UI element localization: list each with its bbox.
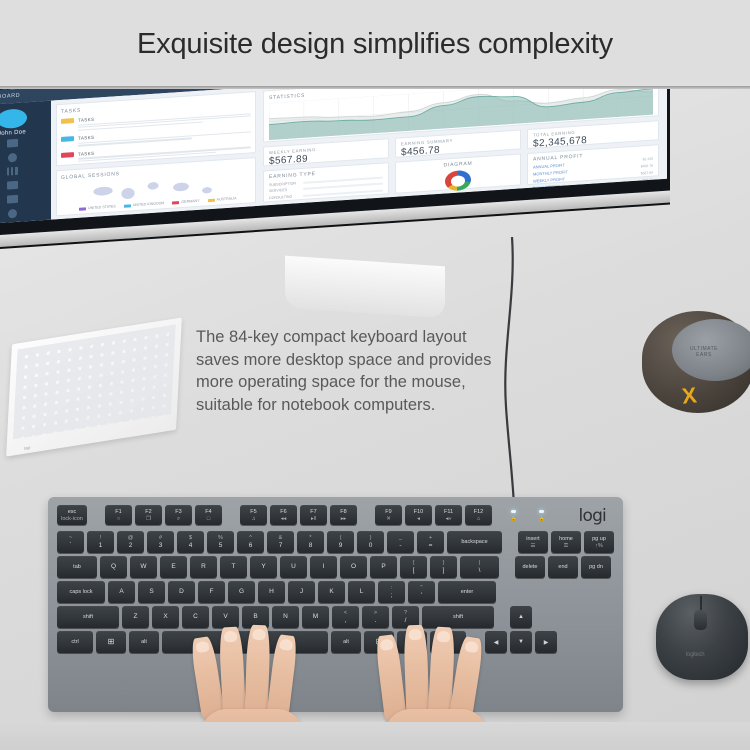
key-d[interactable]: D [168,581,195,603]
key-icon: lock-icon [61,516,83,523]
key-label: L [360,588,364,596]
key-label: home [559,535,573,543]
key-a[interactable]: A [108,581,135,603]
key-blank[interactable]: :; [378,581,405,603]
key-label: / [405,617,407,625]
monitor-stand [285,256,445,319]
key-insert[interactable]: insert☰ [518,531,548,553]
key-secondary-label: ) [370,535,372,542]
task-badge [61,136,74,142]
key-secondary-label: } [443,560,445,567]
dashboard-title: DASHBOARD [0,93,20,102]
mouse-scroll-wheel [694,610,707,630]
key-label: 9 [339,542,343,550]
bar-label: SERVICES [269,187,303,193]
key-home[interactable]: home⚿ [551,531,581,553]
keyboard-tab-row: tabQWERTYUIOP{[}]|\deleteendpg dn [57,556,614,578]
key-label: shift [83,613,93,621]
keyboard-number-row: ~`!1@2#3$4%5^6&7*8(9)0_-+=backspaceinser… [57,531,614,553]
key-icon: ◂◂ [281,516,287,523]
key-u[interactable]: U [280,556,307,578]
bluetooth-speaker: ULTIMATE EARS X [642,311,750,413]
arrow-up-key[interactable]: ▲ [510,606,532,628]
key-delete[interactable]: delete [515,556,545,578]
arrow-key-cluster: ▲◀▼▶ [485,631,557,653]
key-f8[interactable]: F8▸▸ [330,505,357,525]
key-label: Q [111,563,116,571]
key-caps-lock[interactable]: caps lock [57,581,105,603]
key-label: F11 [444,508,453,516]
grid-icon [7,139,18,148]
key-secondary-label: : [391,585,393,592]
key-b[interactable]: B [242,606,269,628]
key-blank[interactable]: >. [362,606,389,628]
legend-label: UNITED STATES [88,204,116,210]
key-shift[interactable]: shift [422,606,494,628]
profit-value: $567.89 [641,171,653,177]
key-label: ctrl [71,638,78,646]
bar-track [303,189,383,196]
task-badge [61,118,74,124]
circle-icon [8,152,17,162]
key-label: F12 [474,508,483,516]
key-blank[interactable]: }] [430,556,457,578]
key-5[interactable]: %5 [207,531,234,553]
key-label: alt [343,638,349,646]
key-label: N [283,613,288,621]
key-s[interactable]: S [138,581,165,603]
key-label: ` [69,542,71,550]
key-label: 7 [279,542,283,550]
key-label: alt [141,638,147,646]
key-icon: ☰ [531,543,536,550]
avatar [0,108,27,129]
key-label: ; [391,592,393,600]
key-label: 5 [219,542,223,550]
kpi-card: WEEKLY EARNING $567.89 [263,138,389,166]
headline-banner: Exquisite design simplifies complexity [0,0,750,88]
key-label: F6 [280,508,286,516]
key-esc[interactable]: esclock-icon [57,505,87,525]
key-icon: ▸▸ [341,516,347,523]
key-secondary-label: # [159,535,162,542]
key-label: S [149,588,153,596]
key-m[interactable]: M [302,606,329,628]
key-k[interactable]: K [318,581,345,603]
key-label: D [179,588,184,596]
mechanical-keyboard: logi 🔒 🔒 esclock-iconF1○F2❐F3⌕F4□F5♫F6◂◂… [48,497,623,712]
key-blank[interactable]: ?/ [392,606,419,628]
key-icon: □ [207,516,210,523]
bars-icon [7,167,18,176]
mouse-brand: logitech [686,652,704,658]
bar-label: SUBSCRIPTION [269,180,303,186]
key-label: 4 [189,542,193,550]
key-icon: ♫ [251,516,255,523]
key-g[interactable]: G [228,581,255,603]
key-label: F [210,588,214,596]
key-4[interactable]: $4 [177,531,204,553]
key-label: V [223,613,227,621]
key-icon: ✕ [386,516,391,523]
nav-cluster-top: insert☰home⚿pg up↑% [518,531,614,553]
key-icon: ⚿ [564,543,568,550]
key-label: pg up [592,535,606,543]
key-label: A [119,588,123,596]
key-key[interactable] [162,631,328,653]
key-label: esc [68,508,77,516]
key-y[interactable]: Y [250,556,277,578]
key-blank[interactable]: {[ [400,556,427,578]
key-secondary-label: + [429,535,432,542]
key-f5[interactable]: F5♫ [240,505,267,525]
key-icon: ❐ [146,516,151,523]
kpi-card: EARNING SUMMARY $456.78 [395,129,521,157]
key-secondary-label: ( [340,535,342,542]
key-f7[interactable]: F7▸‖ [300,505,327,525]
key-c[interactable]: C [182,606,209,628]
key-icon: ⌕ [177,516,180,523]
diagram-card: DIAGRAM [395,153,521,193]
legend-item: GERMANY [172,199,199,205]
key-label: Y [261,563,265,571]
key-label: shift [453,613,463,621]
key-label: F7 [310,508,316,516]
key-pg-up[interactable]: pg up↑% [584,531,614,553]
legend-item: UNITED KINGDOM [124,201,165,208]
wireless-mouse: logitech [656,594,750,690]
key-secondary-label: * [309,535,311,542]
key-f11[interactable]: F11◂» [435,505,462,525]
key-tab[interactable]: tab [57,556,97,578]
key-alt[interactable]: alt [331,631,361,653]
key-secondary-label: _ [399,535,402,542]
mini-keyboard-keys [13,324,176,439]
key-o[interactable]: O [340,556,367,578]
mouse-body: logitech [656,594,748,680]
speaker-brand: ULTIMATE EARS [690,346,718,358]
key-8[interactable]: *8 [297,531,324,553]
key-label: U [291,563,296,571]
keyboard-function-row: esclock-iconF1○F2❐F3⌕F4□F5♫F6◂◂F7▸‖F8▸▸F… [57,505,614,525]
key-label: 3 [159,542,163,550]
key-f9[interactable]: F9✕ [375,505,402,525]
key-f3[interactable]: F3⌕ [165,505,192,525]
key-label: 0 [369,542,373,550]
key-f2[interactable]: F2❐ [135,505,162,525]
monitor: DASHBOARD John Doe [0,89,670,249]
key-label: end [558,563,567,571]
key-blank[interactable]: ⊞ [364,631,394,653]
key-label: C [193,613,198,621]
diagram-card-title: DIAGRAM [401,158,515,172]
key-label: F9 [385,508,391,516]
key-pg-dn[interactable]: pg dn [581,556,611,578]
key-f12[interactable]: F12⌂ [465,505,492,525]
key-gap [90,505,102,525]
keyboard-caps-row: caps lockASDFGHJKL:;"'enter [57,581,614,603]
key-label: . [375,617,377,625]
key-label: ⊞ [108,638,115,646]
refresh-icon [8,208,17,218]
page-title: Exquisite design simplifies complexity [137,28,613,61]
key-blank[interactable]: ~` [57,531,84,553]
key-label: caps lock [70,588,93,596]
key-label: F4 [205,508,211,516]
key-icon: ⌂ [477,516,480,523]
key-enter[interactable]: enter [438,581,496,603]
key-label: F1 [115,508,121,516]
key-blank[interactable]: _- [387,531,414,553]
profit-value: $456.78 [641,164,653,170]
key-x[interactable]: X [152,606,179,628]
key-label: = [429,542,433,550]
key-blank[interactable]: <, [332,606,359,628]
legend-label: GERMANY [181,199,199,204]
key-label: 6 [249,542,253,550]
key-blank[interactable]: ▤ [397,631,427,653]
callout-text: The 84-key compact keyboard layout saves… [196,326,506,416]
key-gap [225,505,237,525]
footer-strip [0,722,750,750]
key-blank[interactable]: "' [408,581,435,603]
key-secondary-label: { [413,560,415,567]
speaker-brand-line2: EARS [696,352,712,358]
key-v[interactable]: V [212,606,239,628]
global-sessions-card: GLOBAL SESSIONS UNITED STATES UNITED KIN… [56,157,256,216]
key-label: M [313,613,318,621]
profit-name: MONTHLY PROFIT [533,169,568,176]
key-end[interactable]: end [548,556,578,578]
key-blank[interactable]: |\ [460,556,499,578]
key-secondary-label: | [479,560,480,567]
sidebar-item-settings[interactable] [0,204,51,223]
key-0[interactable]: )0 [357,531,384,553]
product-photo: DASHBOARD John Doe [0,89,750,750]
key-f1[interactable]: F1○ [105,505,132,525]
key-label: 1 [99,542,103,550]
key-label: tab [73,563,81,571]
key-label: X [163,613,167,621]
key-f[interactable]: F [198,581,225,603]
key-3[interactable]: #3 [147,531,174,553]
dashboard-sidebar: John Doe [0,101,51,225]
profit-value: $2,345 [643,157,653,163]
speaker-x-mark: X [681,382,698,409]
key-backspace[interactable]: backspace [447,531,502,553]
key-label: , [345,617,347,625]
key-label: ▤ [408,638,416,646]
legend-label: UNITED KINGDOM [133,201,165,207]
key-label: F3 [175,508,181,516]
profit-name: WEEKLY PROFIT [533,176,565,183]
key-label: J [300,588,303,596]
key-t[interactable]: T [220,556,247,578]
key-label: 8 [309,542,313,550]
key-secondary-label: < [344,610,347,617]
key-label: Z [134,613,138,621]
key-label: 2 [129,542,133,550]
key-secondary-label: ~ [69,535,72,542]
key-9[interactable]: (9 [327,531,354,553]
profit-value: $89.01 [643,178,653,184]
key-7[interactable]: &7 [267,531,294,553]
donut-chart [445,170,471,192]
key-icon: ○ [117,516,120,523]
key-label: F5 [250,508,256,516]
key-label: I [323,563,325,571]
key-ctrl[interactable]: ctrl [430,631,466,653]
key-blank[interactable]: ⊞ [96,631,126,653]
key-label: T [232,563,236,571]
key-secondary-label: $ [189,535,192,542]
key-secondary-label: ! [100,535,102,542]
key-secondary-label: ^ [249,535,252,542]
key-l[interactable]: L [348,581,375,603]
bar-label: CONSULTING [269,193,303,199]
key-label: P [381,563,385,571]
key-secondary-label: % [218,535,223,542]
key-j[interactable]: J [288,581,315,603]
key-label: - [399,542,401,550]
annual-profit-card: ANNUAL PROFIT ANNUAL PROFIT $2,345 MONTH… [527,144,659,185]
key-icon: ◂» [446,516,452,523]
key-label: H [269,588,274,596]
key-shift[interactable]: shift [57,606,119,628]
key-q[interactable]: Q [100,556,127,578]
mini-keyboard-body: logi [6,317,182,456]
key-f6[interactable]: F6◂◂ [270,505,297,525]
key-secondary-label: " [421,585,423,592]
key-label: F2 [145,508,151,516]
task-badge [61,152,74,158]
key-secondary-label: & [279,535,283,542]
tasks-card: TASKS TASKS [56,91,256,166]
key-z[interactable]: Z [122,606,149,628]
key-e[interactable]: E [160,556,187,578]
key-ctrl[interactable]: ctrl [57,631,93,653]
key-p[interactable]: P [370,556,397,578]
key-i[interactable]: I [310,556,337,578]
key-2[interactable]: @2 [117,531,144,553]
key-gap [360,505,372,525]
key-w[interactable]: W [130,556,157,578]
key-h[interactable]: H [258,581,285,603]
mini-keyboard-illustration: logi [6,317,182,456]
key-label: enter [461,588,474,596]
key-1[interactable]: !1 [87,531,114,553]
key-label: E [171,563,175,571]
keyboard-bottom-row: ctrl⊞altalt⊞▤ctrl▲◀▼▶ [57,631,614,653]
key-label: [ [413,567,415,575]
legend-item: UNITED STATES [79,204,116,210]
key-f10[interactable]: F10◂ [405,505,432,525]
key-label: pg dn [589,563,603,571]
key-label: backspace [461,538,487,546]
key-label: K [329,588,333,596]
key-label: delete [523,563,538,571]
key-blank[interactable]: += [417,531,444,553]
key-r[interactable]: R [190,556,217,578]
profit-name: DAILY PROFIT [533,184,560,191]
key-label: G [239,588,244,596]
mail-icon [7,181,18,190]
nav-cluster-bottom: deleteendpg dn [515,556,611,578]
arrow-right-key[interactable]: ▶ [535,631,557,653]
key-label: W [140,563,146,571]
key-label: ⊞ [376,638,383,646]
key-secondary-label: @ [128,535,134,542]
key-label: ctrl [444,638,451,646]
key-label: ] [443,567,445,575]
key-icon: ▸‖ [311,516,316,523]
arrow-down-key[interactable]: ▼ [510,631,532,653]
key-alt[interactable]: alt [129,631,159,653]
key-icon: ↑% [595,543,603,550]
mini-keyboard-brand: logi [24,445,30,451]
legend-item: AUSTRALIA [208,196,237,202]
earning-type-card: EARNING TYPE SUBSCRIPTION SERVICES CONSU… [263,162,389,202]
folder-icon [7,195,18,204]
key-secondary-label: > [374,610,377,617]
key-label: F10 [414,508,423,516]
legend-label: AUSTRALIA [217,196,237,201]
key-label: R [201,563,206,571]
key-label: ' [421,592,422,600]
key-label: \ [479,567,481,575]
key-label: O [351,563,356,571]
profit-name: ANNUAL PROFIT [533,162,565,169]
key-n[interactable]: N [272,606,299,628]
key-secondary-label: ? [404,610,407,617]
key-6[interactable]: ^6 [237,531,264,553]
key-label: insert [526,535,539,543]
key-icon: ◂ [417,516,420,523]
key-f4[interactable]: F4□ [195,505,222,525]
key-label: B [253,613,257,621]
arrow-left-key[interactable]: ◀ [485,631,507,653]
key-label: F8 [340,508,346,516]
